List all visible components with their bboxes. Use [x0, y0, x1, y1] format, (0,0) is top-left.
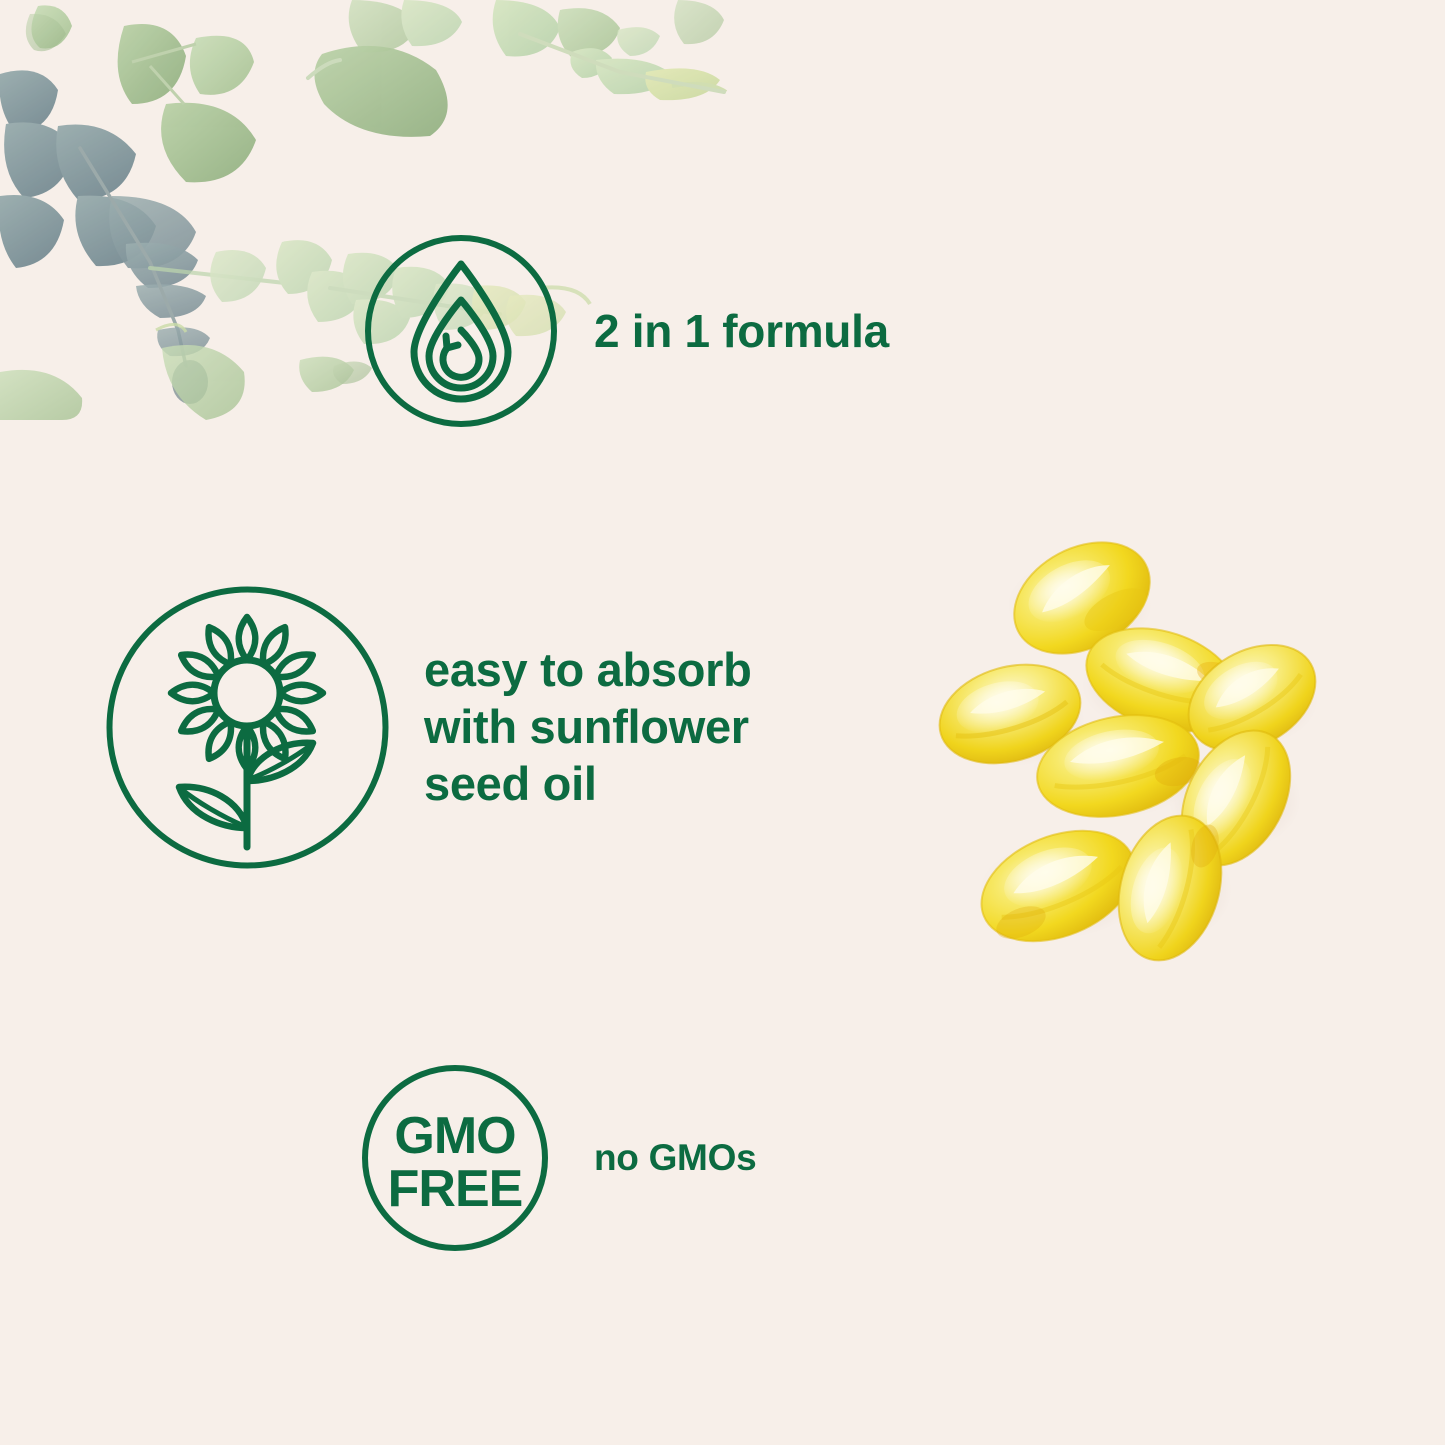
foliage-sprig-upper-left	[26, 5, 256, 182]
foliage-leaf-top-strip	[349, 0, 724, 52]
foliage-leaf-lower-left	[0, 324, 245, 420]
benefit-row-two-in-one: 2 in 1 formula	[362, 232, 889, 430]
benefit-label-easy-absorb: easy to absorb with sunflower seed oil	[424, 642, 752, 813]
foliage-eucalyptus-branch	[0, 70, 210, 404]
benefit-row-no-gmos: GMO FREE no GMOs	[360, 1063, 756, 1253]
gmo-badge-line-2: FREE	[388, 1160, 523, 1218]
infographic-canvas: 2 in 1 formula	[0, 0, 1445, 1445]
foliage-leaf-center-top	[308, 46, 448, 137]
benefit-label-no-gmos: no GMOs	[594, 1138, 756, 1177]
gmo-badge-line-1: GMO	[394, 1107, 515, 1165]
foliage-sprig-upper-right	[493, 0, 726, 100]
sunflower-icon	[105, 585, 390, 870]
oil-droplet-spiral-icon	[362, 232, 560, 430]
gmo-free-badge-icon: GMO FREE	[360, 1063, 550, 1253]
benefit-row-easy-absorb: easy to absorb with sunflower seed oil	[105, 585, 752, 870]
benefit-label-two-in-one: 2 in 1 formula	[594, 307, 889, 356]
softgel-capsules-photo	[930, 470, 1330, 970]
